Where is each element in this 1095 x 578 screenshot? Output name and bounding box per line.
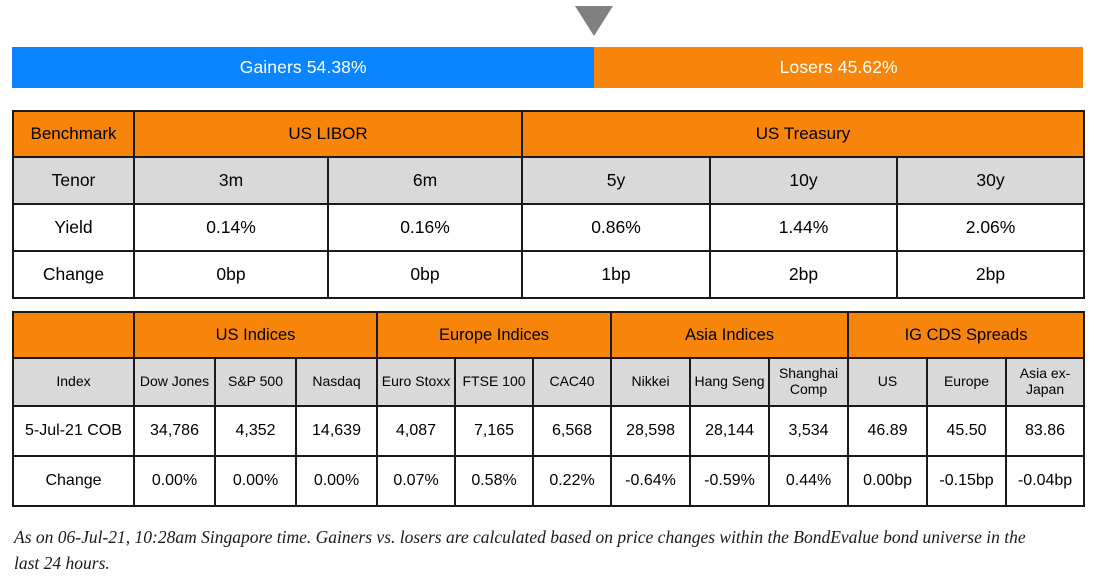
indices-col-sp500: S&P 500	[215, 358, 296, 406]
indices-change-sp500: 0.00%	[215, 456, 296, 506]
indices-change-nikkei: -0.64%	[611, 456, 690, 506]
indices-row-cob: 5-Jul-21 COB 34,786 4,352 14,639 4,087 7…	[13, 406, 1084, 456]
benchmark-tenor-label: Tenor	[13, 157, 134, 204]
indices-cob-hang-seng: 28,144	[690, 406, 769, 456]
indices-col-europe: Europe	[927, 358, 1006, 406]
indices-table: US Indices Europe Indices Asia Indices I…	[12, 311, 1085, 507]
indices-change-dow-jones: 0.00%	[134, 456, 215, 506]
benchmark-group-us-treasury: US Treasury	[522, 111, 1084, 157]
benchmark-tenor-3m: 3m	[134, 157, 328, 204]
indices-col-shanghai-comp: Shanghai Comp	[769, 358, 848, 406]
indices-row-label: Change	[13, 456, 134, 506]
benchmark-yield-5y: 0.86%	[522, 204, 710, 251]
indices-col-us: US	[848, 358, 927, 406]
indices-cob-dow-jones: 34,786	[134, 406, 215, 456]
indices-change-cac40: 0.22%	[533, 456, 611, 506]
benchmark-tenor-5y: 5y	[522, 157, 710, 204]
indices-cob-nasdaq: 14,639	[296, 406, 377, 456]
benchmark-row-label: Yield	[13, 204, 134, 251]
benchmark-change-5y: 1bp	[522, 251, 710, 298]
indices-group-europe: Europe Indices	[377, 312, 611, 358]
indices-cob-shanghai-comp: 3,534	[769, 406, 848, 456]
benchmark-change-3m: 0bp	[134, 251, 328, 298]
indices-col-asia-ex-japan: Asia ex-Japan	[1006, 358, 1084, 406]
benchmark-tenor-6m: 6m	[328, 157, 522, 204]
sentiment-bar-track: Gainers 54.38% Losers 45.62%	[12, 47, 1083, 88]
benchmark-yield-6m: 0.16%	[328, 204, 522, 251]
indices-cob-euro-stoxx: 4,087	[377, 406, 455, 456]
gainers-segment[interactable]: Gainers 54.38%	[12, 47, 594, 88]
benchmark-yield-30y: 2.06%	[897, 204, 1084, 251]
benchmark-change-10y: 2bp	[710, 251, 897, 298]
benchmark-tenor-row: Tenor 3m 6m 5y 10y 30y	[13, 157, 1084, 204]
indices-group-row: US Indices Europe Indices Asia Indices I…	[13, 312, 1084, 358]
benchmark-row-yield: Yield 0.14% 0.16% 0.86% 1.44% 2.06%	[13, 204, 1084, 251]
indices-group-ig-cds: IG CDS Spreads	[848, 312, 1084, 358]
indices-cob-sp500: 4,352	[215, 406, 296, 456]
indices-change-asia-ex-japan: -0.04bp	[1006, 456, 1084, 506]
benchmark-corner-label: Benchmark	[13, 111, 134, 157]
indices-index-label: Index	[13, 358, 134, 406]
indices-change-hang-seng: -0.59%	[690, 456, 769, 506]
down-triangle-marker-icon	[575, 6, 613, 36]
indices-cob-cac40: 6,568	[533, 406, 611, 456]
indices-col-hang-seng: Hang Seng	[690, 358, 769, 406]
indices-change-euro-stoxx: 0.07%	[377, 456, 455, 506]
indices-col-cac40: CAC40	[533, 358, 611, 406]
indices-change-shanghai-comp: 0.44%	[769, 456, 848, 506]
benchmark-yield-10y: 1.44%	[710, 204, 897, 251]
losers-label: Losers 45.62%	[780, 57, 898, 78]
indices-cob-europe: 45.50	[927, 406, 1006, 456]
benchmark-tenor-30y: 30y	[897, 157, 1084, 204]
indices-change-ftse-100: 0.58%	[455, 456, 533, 506]
benchmark-group-us-libor: US LIBOR	[134, 111, 522, 157]
benchmark-change-30y: 2bp	[897, 251, 1084, 298]
gainers-label: Gainers 54.38%	[240, 57, 367, 78]
benchmark-row-change: Change 0bp 0bp 1bp 2bp 2bp	[13, 251, 1084, 298]
market-summary-page: Gainers 54.38% Losers 45.62% Benchmark U…	[0, 0, 1095, 578]
indices-col-ftse-100: FTSE 100	[455, 358, 533, 406]
indices-cob-asia-ex-japan: 83.86	[1006, 406, 1084, 456]
indices-row-label: 5-Jul-21 COB	[13, 406, 134, 456]
benchmark-table: Benchmark US LIBOR US Treasury Tenor 3m …	[12, 110, 1085, 299]
indices-change-us: 0.00bp	[848, 456, 927, 506]
sentiment-bar: Gainers 54.38% Losers 45.62%	[12, 6, 1083, 88]
indices-group-us: US Indices	[134, 312, 377, 358]
indices-row-change: Change 0.00% 0.00% 0.00% 0.07% 0.58% 0.2…	[13, 456, 1084, 506]
indices-col-dow-jones: Dow Jones	[134, 358, 215, 406]
benchmark-change-6m: 0bp	[328, 251, 522, 298]
indices-cob-us: 46.89	[848, 406, 927, 456]
indices-col-nikkei: Nikkei	[611, 358, 690, 406]
indices-col-nasdaq: Nasdaq	[296, 358, 377, 406]
indices-col-euro-stoxx: Euro Stoxx	[377, 358, 455, 406]
benchmark-yield-3m: 0.14%	[134, 204, 328, 251]
benchmark-tenor-10y: 10y	[710, 157, 897, 204]
indices-column-row: Index Dow Jones S&P 500 Nasdaq Euro Stox…	[13, 358, 1084, 406]
indices-change-nasdaq: 0.00%	[296, 456, 377, 506]
indices-cob-nikkei: 28,598	[611, 406, 690, 456]
indices-corner-label	[13, 312, 134, 358]
losers-segment[interactable]: Losers 45.62%	[594, 47, 1083, 88]
benchmark-row-label: Change	[13, 251, 134, 298]
indices-change-europe: -0.15bp	[927, 456, 1006, 506]
indices-cob-ftse-100: 7,165	[455, 406, 533, 456]
footnote-text: As on 06-Jul-21, 10:28am Singapore time.…	[14, 524, 1054, 577]
indices-group-asia: Asia Indices	[611, 312, 848, 358]
benchmark-group-row: Benchmark US LIBOR US Treasury	[13, 111, 1084, 157]
